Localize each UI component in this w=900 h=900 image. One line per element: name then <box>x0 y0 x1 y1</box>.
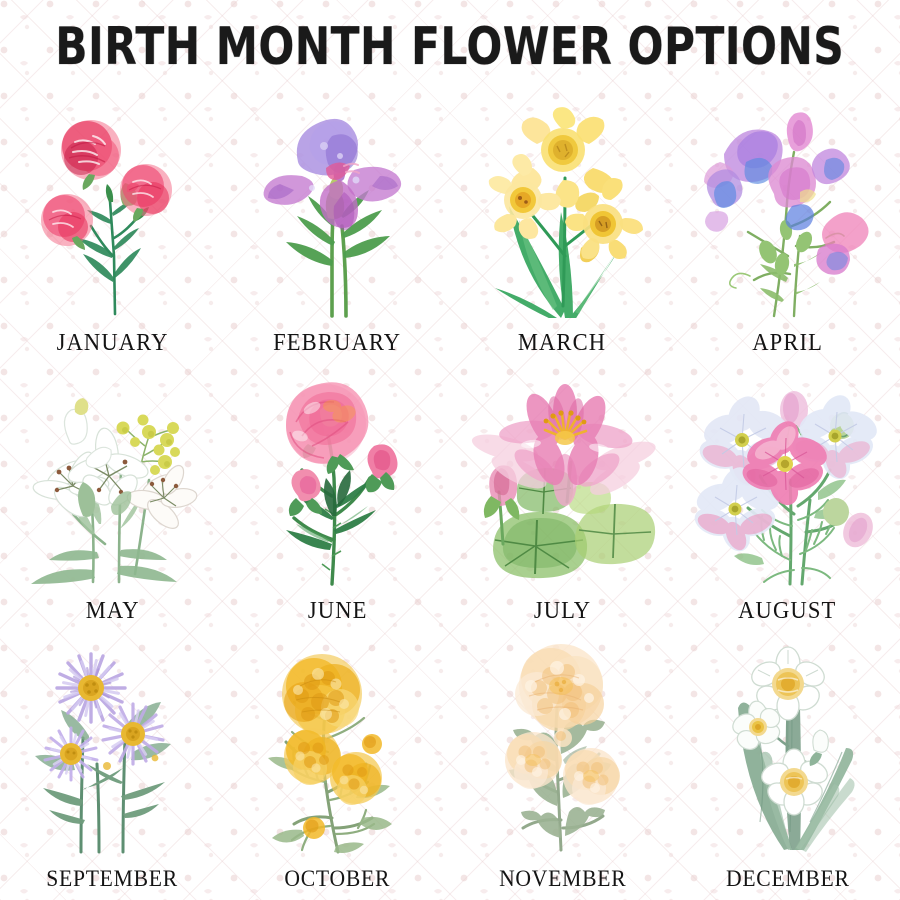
narcissus-illustration <box>690 642 885 854</box>
month-label-april: APRIL <box>752 326 823 360</box>
aster-bloom-left <box>45 728 97 780</box>
carnation-bloom-right <box>120 164 172 222</box>
flower-cell-march[interactable]: MARCH <box>450 92 675 360</box>
cosmos-illustration <box>690 374 885 586</box>
chrysanthemum-bloom-top <box>515 644 604 731</box>
white-lily-illustration <box>15 374 210 586</box>
page-title: BIRTH MONTH FLOWER OPTIONS <box>56 16 845 76</box>
flower-cell-january[interactable]: JANUARY <box>0 92 225 360</box>
carnation-illustration <box>15 106 210 318</box>
sweet-pea-bloom-5 <box>812 148 850 184</box>
marigold-illustration <box>240 642 435 854</box>
aster-bloom-top <box>57 654 125 722</box>
daffodil-illustration <box>465 106 660 318</box>
month-label-may: MAY <box>86 594 140 628</box>
month-label-february: FEBRUARY <box>273 326 401 360</box>
marigold-bloom-right <box>330 752 382 805</box>
flower-cell-september[interactable]: SEPTEMBER <box>0 628 225 896</box>
rose-bloom <box>286 382 368 474</box>
sweet-pea-illustration <box>690 106 885 318</box>
rose-illustration <box>240 374 435 586</box>
carnation-bloom-top <box>61 120 121 190</box>
rose-bud-right <box>366 444 398 492</box>
iris-bloom <box>264 119 402 230</box>
marigold-bud-lower <box>303 817 325 839</box>
narcissus-bud <box>810 730 829 766</box>
flower-cell-february[interactable]: FEBRUARY <box>225 92 450 360</box>
month-label-november: NOVEMBER <box>499 862 626 896</box>
month-label-june: JUNE <box>308 594 368 628</box>
flower-cell-october[interactable]: OCTOBER <box>225 628 450 896</box>
flower-cell-november[interactable]: NOVEMBER <box>450 628 675 896</box>
aster-illustration <box>15 642 210 854</box>
marigold-bud-right <box>362 734 382 754</box>
chrysanthemum-bloom-right <box>563 748 620 805</box>
title-bar: BIRTH MONTH FLOWER OPTIONS <box>0 0 900 92</box>
chrysanthemum-bud <box>554 729 572 747</box>
month-label-january: JANUARY <box>57 326 169 360</box>
month-label-august: AUGUST <box>738 594 836 628</box>
flower-cell-august[interactable]: AUGUST <box>675 360 900 628</box>
flower-cell-april[interactable]: APRIL <box>675 92 900 360</box>
flower-cell-july[interactable]: JULY <box>450 360 675 628</box>
month-label-july: JULY <box>534 594 591 628</box>
flower-cell-december[interactable]: DECEMBER <box>675 628 900 896</box>
water-lily-illustration <box>465 374 660 586</box>
poster-page: BIRTH MONTH FLOWER OPTIONS <box>0 0 900 900</box>
sweet-pea-bloom-3 <box>768 157 816 230</box>
iris-illustration <box>240 106 435 318</box>
chrysanthemum-illustration <box>465 642 660 854</box>
flower-grid: JANUARY <box>0 92 900 896</box>
sweet-pea-bloom-4 <box>816 212 868 274</box>
sweet-pea-bloom-2 <box>705 169 742 231</box>
month-label-march: MARCH <box>518 326 606 360</box>
marigold-bloom-top <box>282 654 362 735</box>
month-label-october: OCTOBER <box>285 862 391 896</box>
flower-cell-june[interactable]: JUNE <box>225 360 450 628</box>
month-label-december: DECEMBER <box>726 862 850 896</box>
flower-cell-may[interactable]: MAY <box>0 360 225 628</box>
sweet-pea-bud-top <box>787 112 813 151</box>
rose-bud-left <box>289 469 322 516</box>
month-label-september: SEPTEMBER <box>47 862 179 896</box>
